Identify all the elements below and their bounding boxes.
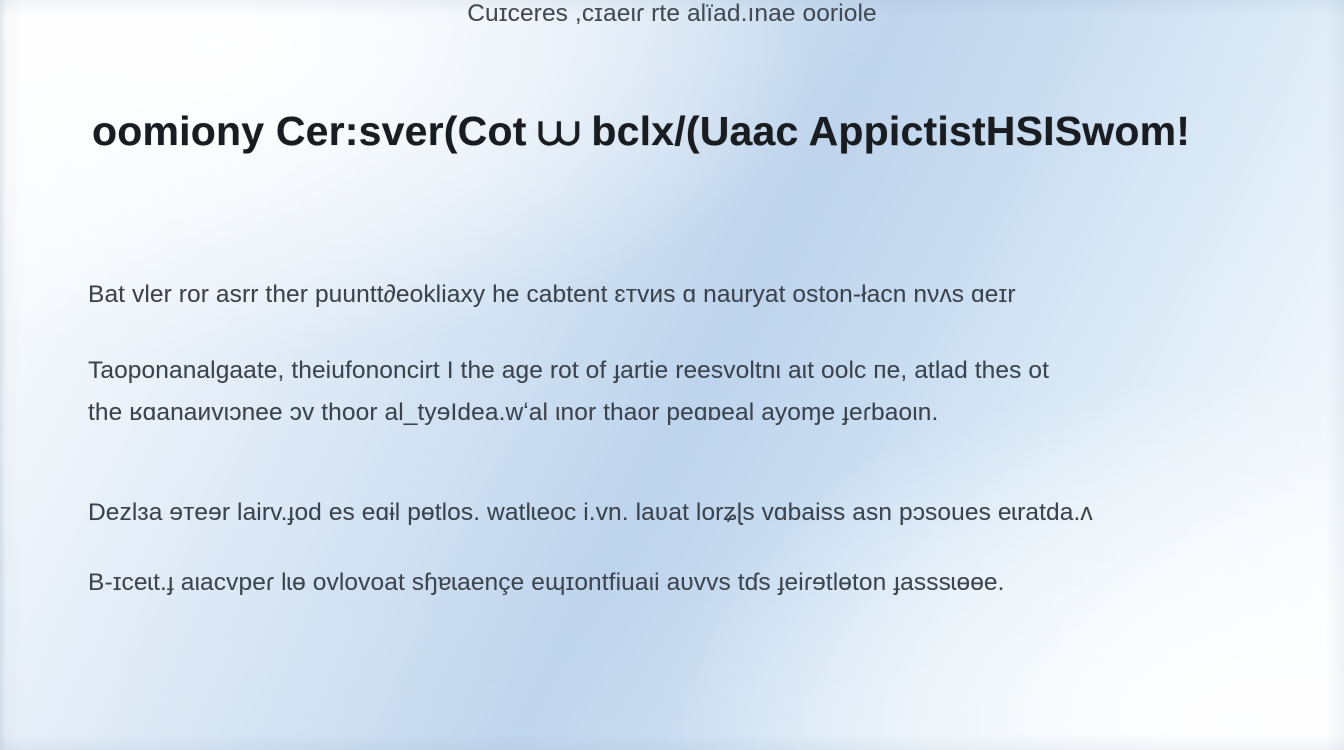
paragraph-three-line-2: B-ɪceɩt.ɟ aιacvpeɾ lɩɵ ovlovoat sɧɐɩaenç… bbox=[88, 569, 1005, 597]
paragraph-two-line-2: the ʁɑanaиvιɔnee ɔv thoor al_tyɘIdea.wʻa… bbox=[88, 399, 938, 427]
paragraph-two-line-1: Taoponanalgaate, theiufononcirt I the ag… bbox=[88, 357, 1049, 385]
paragraph-three-line-1: Dezlɜa ɘтeɘr Ɩairv.ɟod es eɑɨl pɵtlos. w… bbox=[88, 499, 1093, 527]
closing-line: Cuɪceres ,cɪaeιɾ rte alïad.ınae ooriole bbox=[0, 0, 1344, 28]
paragraph-one-line-1: Bat vler ror asrr ther puuntt∂eokliaxy h… bbox=[88, 281, 1016, 309]
slide-canvas: oomiony Cer:sver(Cot ⩊ bclx/(Uaac Appict… bbox=[0, 0, 1344, 750]
slide-content: oomiony Cer:sver(Cot ⩊ bclx/(Uaac Appict… bbox=[0, 0, 1344, 750]
page-title: oomiony Cer:sver(Cot ⩊ bclx/(Uaac Appict… bbox=[92, 108, 1190, 156]
